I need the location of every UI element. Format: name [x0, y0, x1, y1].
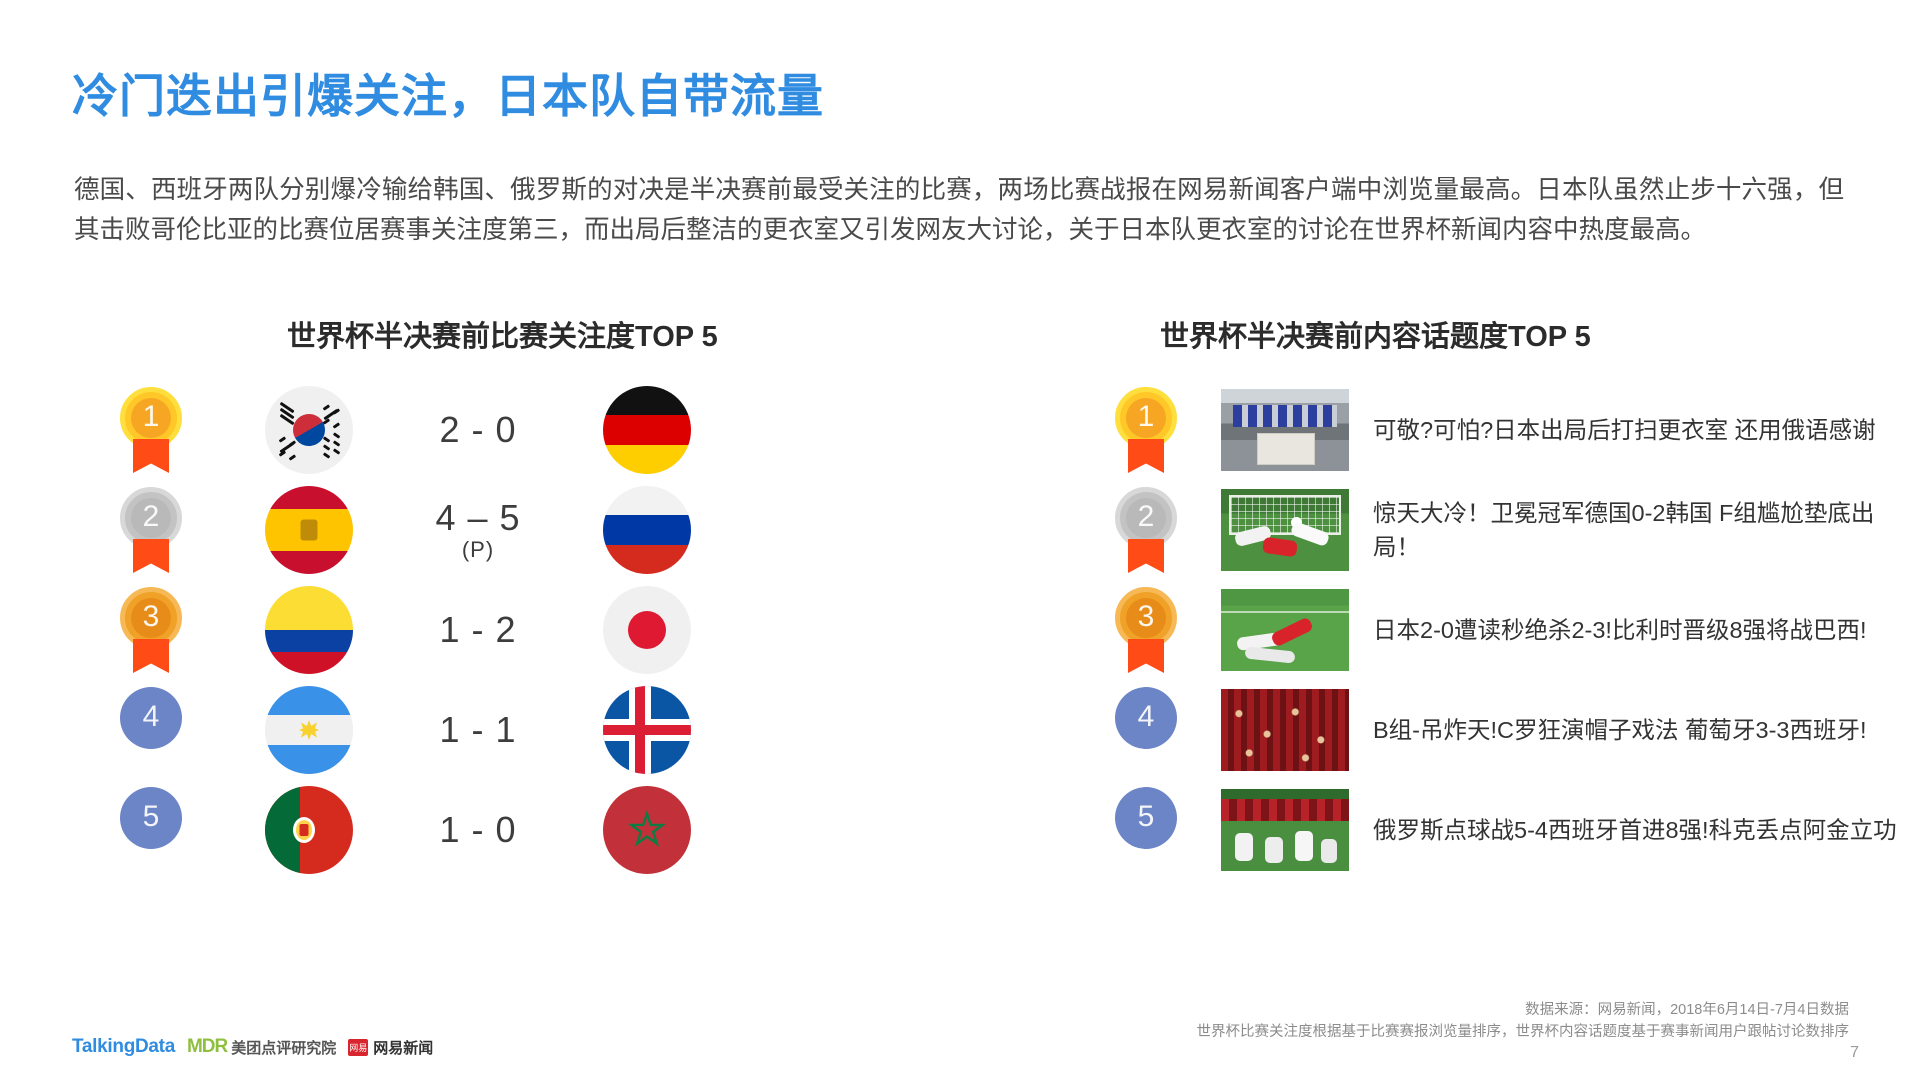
korea-flag-icon — [265, 386, 353, 474]
rank-number: 2 — [1138, 502, 1155, 532]
news-ranking-list: 1 可敬?可怕?日本出局后打扫更衣室 还用俄语感谢 2 惊天大冷！卫冕冠军德国0… — [1115, 380, 1905, 880]
portugal-flag-icon — [265, 786, 353, 874]
rank-badge-5: 5 — [120, 787, 182, 873]
russia-flag-icon — [603, 486, 691, 574]
news-title: 俄罗斯点球战5-4西班牙首进8强!科克丢点阿金立功 — [1373, 813, 1905, 847]
section-title-topics: 世界杯半决赛前内容话题度TOP 5 — [1160, 313, 1591, 355]
news-title: 日本2-0遭读秒绝杀2-3!比利时晋级8强将战巴西! — [1373, 613, 1905, 647]
rank-badge-5: 5 — [1115, 787, 1177, 873]
footer-logos: TalkingData MDR 美团点评研究院 网易 网易新闻 — [72, 1036, 433, 1058]
pitch-players-photo — [1221, 589, 1349, 671]
rank-medal-gold: 1 — [120, 387, 182, 473]
match-score: 4 – 5 (P) — [353, 499, 603, 562]
ribbon-icon — [1128, 539, 1164, 573]
ribbon-icon — [133, 539, 169, 573]
netease-label: 网易新闻 — [373, 1037, 433, 1058]
news-title: B组-吊炸天!C罗狂演帽子戏法 葡萄牙3-3西班牙! — [1373, 713, 1905, 747]
table-row: 5 1 - 0 — [120, 780, 920, 880]
rank-number: 5 — [1138, 802, 1155, 832]
rank-number: 1 — [143, 402, 160, 432]
source-line-2: 世界杯比赛关注度根据基于比赛赛报浏览量排序，世界杯内容话题度基于赛事新闻用户跟帖… — [1197, 1021, 1850, 1043]
slide-root: 冷门迭出引爆关注，日本队自带流量 德国、西班牙两队分别爆冷输给韩国、俄罗斯的对决… — [0, 0, 1921, 1080]
rank-medal-gold: 1 — [1115, 387, 1177, 473]
table-row: 1 — [120, 380, 920, 480]
rank-badge-4: 4 — [1115, 687, 1177, 773]
germany-flag-icon — [603, 386, 691, 474]
intro-paragraph: 德国、西班牙两队分别爆冷输给韩国、俄罗斯的对决是半决赛前最受关注的比赛，两场比赛… — [74, 170, 1844, 250]
rank-medal-bronze: 3 — [120, 587, 182, 673]
page-number: 7 — [1850, 1044, 1859, 1062]
red-crowd-photo — [1221, 689, 1349, 771]
rank-number: 5 — [143, 802, 160, 832]
rank-number: 3 — [1138, 602, 1155, 632]
ribbon-icon — [133, 639, 169, 673]
japan-flag-icon — [603, 586, 691, 674]
list-item[interactable]: 1 可敬?可怕?日本出局后打扫更衣室 还用俄语感谢 — [1115, 380, 1905, 480]
page-title: 冷门迭出引爆关注，日本队自带流量 — [72, 60, 824, 126]
netease-logo: 网易 网易新闻 — [348, 1037, 433, 1058]
rank-number: 4 — [143, 702, 160, 732]
locker-room-photo — [1221, 389, 1349, 471]
netease-mark: 网易 — [348, 1039, 368, 1056]
colombia-flag-icon — [265, 586, 353, 674]
list-item[interactable]: 3 日本2-0遭读秒绝杀2-3!比利时晋级8强将战巴西! — [1115, 580, 1905, 680]
goal-save-photo — [1221, 489, 1349, 571]
rank-number: 2 — [143, 502, 160, 532]
rank-medal-silver: 2 — [120, 487, 182, 573]
list-item[interactable]: 5 俄罗斯点球战5-4西班牙首进8强!科克丢点阿金立功 — [1115, 780, 1905, 880]
celebration-photo — [1221, 789, 1349, 871]
table-row: 2 4 – 5 (P) — [120, 480, 920, 580]
mdr-label: 美团点评研究院 — [231, 1037, 336, 1058]
mdr-logo: MDR 美团点评研究院 — [187, 1036, 336, 1058]
argentina-flag-icon — [265, 686, 353, 774]
spain-flag-icon — [265, 486, 353, 574]
iceland-flag-icon — [603, 686, 691, 774]
rank-medal-silver: 2 — [1115, 487, 1177, 573]
match-score: 1 - 2 — [353, 611, 603, 649]
penalty-note: (P) — [353, 538, 603, 561]
ribbon-icon — [1128, 439, 1164, 473]
rank-number: 1 — [1138, 402, 1155, 432]
mdr-mark: MDR — [187, 1036, 227, 1058]
talkingdata-logo: TalkingData — [72, 1036, 175, 1058]
ribbon-icon — [1128, 639, 1164, 673]
news-title: 可敬?可怕?日本出局后打扫更衣室 还用俄语感谢 — [1373, 413, 1905, 447]
table-row: 3 1 - 2 — [120, 580, 920, 680]
match-score: 1 - 1 — [353, 711, 603, 749]
match-ranking-list: 1 — [120, 380, 920, 880]
rank-number: 3 — [143, 602, 160, 632]
table-row: 4 1 - 1 — [120, 680, 920, 780]
source-note: 数据来源：网易新闻，2018年6月14日-7月4日数据 世界杯比赛关注度根据基于… — [1197, 999, 1850, 1043]
morocco-flag-icon — [603, 786, 691, 874]
rank-badge-4: 4 — [120, 687, 182, 773]
rank-number: 4 — [1138, 702, 1155, 732]
match-score: 1 - 0 — [353, 811, 603, 849]
list-item[interactable]: 4 B组-吊炸天!C罗狂演帽子戏法 葡萄牙3-3西班牙! — [1115, 680, 1905, 780]
section-title-matches: 世界杯半决赛前比赛关注度TOP 5 — [287, 313, 718, 355]
ribbon-icon — [133, 439, 169, 473]
news-title: 惊天大冷！卫冕冠军德国0-2韩国 F组尴尬垫底出局！ — [1373, 496, 1905, 564]
source-line-1: 数据来源：网易新闻，2018年6月14日-7月4日数据 — [1197, 999, 1850, 1021]
match-score: 2 - 0 — [353, 411, 603, 449]
list-item[interactable]: 2 惊天大冷！卫冕冠军德国0-2韩国 F组尴尬垫底出局！ — [1115, 480, 1905, 580]
rank-medal-bronze: 3 — [1115, 587, 1177, 673]
